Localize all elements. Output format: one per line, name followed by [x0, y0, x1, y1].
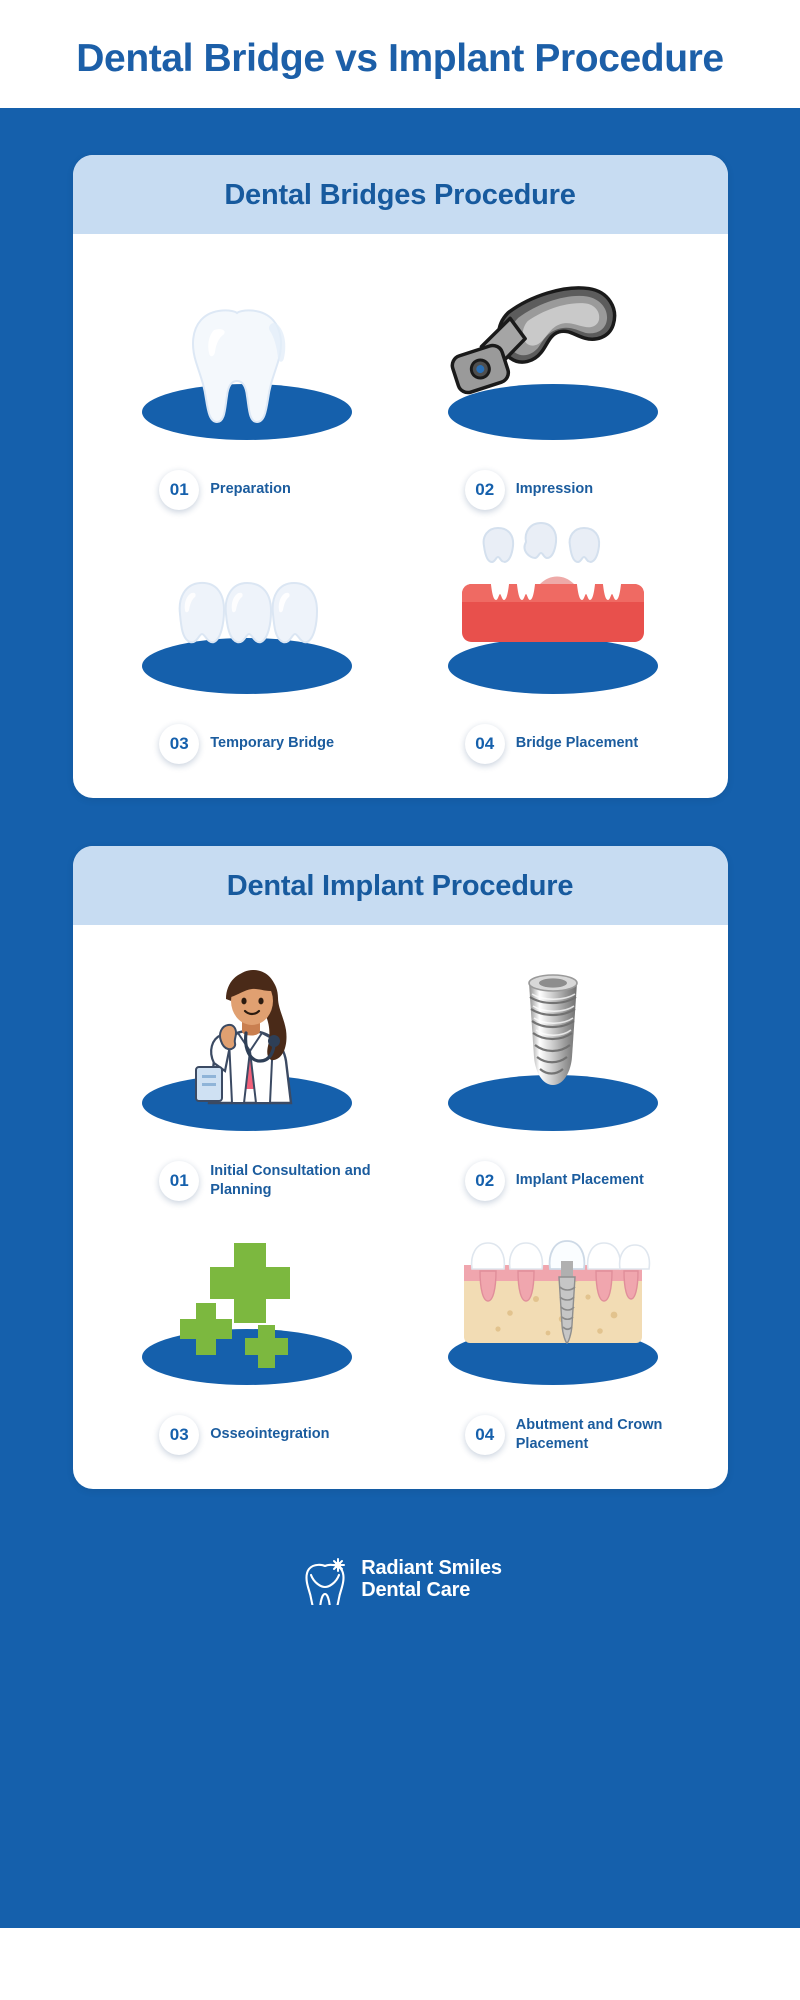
dentist-icon — [122, 955, 372, 1145]
step-label-row: 02 Impression — [427, 470, 679, 510]
step-label: Abutment and Crown Placement — [516, 1416, 679, 1454]
tooth-icon — [122, 264, 372, 454]
impression-tray-icon — [428, 264, 678, 454]
footer-brand: Radiant Smiles Dental Care — [361, 1558, 502, 1600]
step-label: Implant Placement — [516, 1171, 644, 1190]
step-label: Bridge Placement — [516, 734, 639, 753]
card-title: Dental Implant Procedure — [91, 870, 710, 903]
step-number-badge: 01 — [159, 1161, 199, 1201]
card-title: Dental Bridges Procedure — [91, 179, 710, 212]
step-bridges-04: 04 Bridge Placement — [400, 518, 706, 764]
art-implant-placement — [400, 955, 706, 1145]
brand-line-1: Radiant Smiles — [361, 1558, 502, 1579]
page-title: Dental Bridge vs Implant Procedure — [70, 36, 730, 82]
step-number-badge: 03 — [159, 724, 199, 764]
step-bridges-01: 01 Preparation — [95, 264, 401, 510]
card-body-dental-implant: 01 Initial Consultation and Planning — [73, 925, 728, 1489]
title-bar: Dental Bridge vs Implant Procedure — [0, 0, 800, 108]
footer: Radiant Smiles Dental Care — [0, 1537, 800, 1639]
step-number-badge: 04 — [465, 1415, 505, 1455]
step-label: Initial Consultation and Planning — [210, 1162, 373, 1200]
art-impression — [400, 264, 706, 454]
step-implant-04: 04 Abutment and Crown Placement — [400, 1209, 706, 1455]
steps-grid: 01 Initial Consultation and Planning — [95, 955, 706, 1455]
step-label: Preparation — [210, 480, 291, 499]
step-number-badge: 02 — [465, 1161, 505, 1201]
step-implant-03: 03 Osseointegration — [95, 1209, 401, 1455]
step-label-row: 03 Osseointegration — [121, 1415, 373, 1455]
step-bridges-02: 02 Impression — [400, 264, 706, 510]
step-bridges-03: 03 Temporary Bridge — [95, 518, 401, 764]
card-header-dental-bridges: Dental Bridges Procedure — [73, 155, 728, 234]
step-label-row: 03 Temporary Bridge — [121, 724, 373, 764]
step-label: Impression — [516, 480, 593, 499]
abutment-crown-icon — [428, 1209, 678, 1399]
step-number-badge: 02 — [465, 470, 505, 510]
step-label-row: 04 Abutment and Crown Placement — [427, 1415, 679, 1455]
step-label-row: 01 Initial Consultation and Planning — [121, 1161, 373, 1201]
step-label: Osseointegration — [210, 1425, 329, 1444]
art-abutment-crown — [400, 1209, 706, 1399]
step-number-badge: 04 — [465, 724, 505, 764]
medical-cross-icon — [122, 1209, 372, 1399]
card-header-dental-implant: Dental Implant Procedure — [73, 846, 728, 925]
step-number-badge: 03 — [159, 1415, 199, 1455]
art-initial-consultation — [95, 955, 401, 1145]
temporary-bridge-icon — [122, 518, 372, 708]
step-implant-02: 02 Implant Placement — [400, 955, 706, 1201]
tooth-sparkle-logo-icon — [298, 1555, 350, 1605]
step-label-row: 04 Bridge Placement — [427, 724, 679, 764]
step-number-badge: 01 — [159, 470, 199, 510]
card-body-dental-bridges: 01 Preparation — [73, 234, 728, 798]
bridge-placement-icon — [428, 518, 678, 708]
brand-line-2: Dental Care — [361, 1580, 502, 1601]
card-dental-implant: Dental Implant Procedure — [73, 846, 728, 1489]
implant-screw-icon — [428, 955, 678, 1145]
step-label: Temporary Bridge — [210, 734, 334, 753]
blue-body: Dental Bridges Procedure — [0, 108, 800, 1928]
art-bridge-placement — [400, 518, 706, 708]
art-osseointegration — [95, 1209, 401, 1399]
art-preparation — [95, 264, 401, 454]
step-label-row: 02 Implant Placement — [427, 1161, 679, 1201]
card-dental-bridges: Dental Bridges Procedure — [73, 155, 728, 798]
steps-grid: 01 Preparation — [95, 264, 706, 764]
step-label-row: 01 Preparation — [121, 470, 373, 510]
step-implant-01: 01 Initial Consultation and Planning — [95, 955, 401, 1201]
infographic-page: Dental Bridge vs Implant Procedure Denta… — [0, 0, 800, 2000]
art-temporary-bridge — [95, 518, 401, 708]
